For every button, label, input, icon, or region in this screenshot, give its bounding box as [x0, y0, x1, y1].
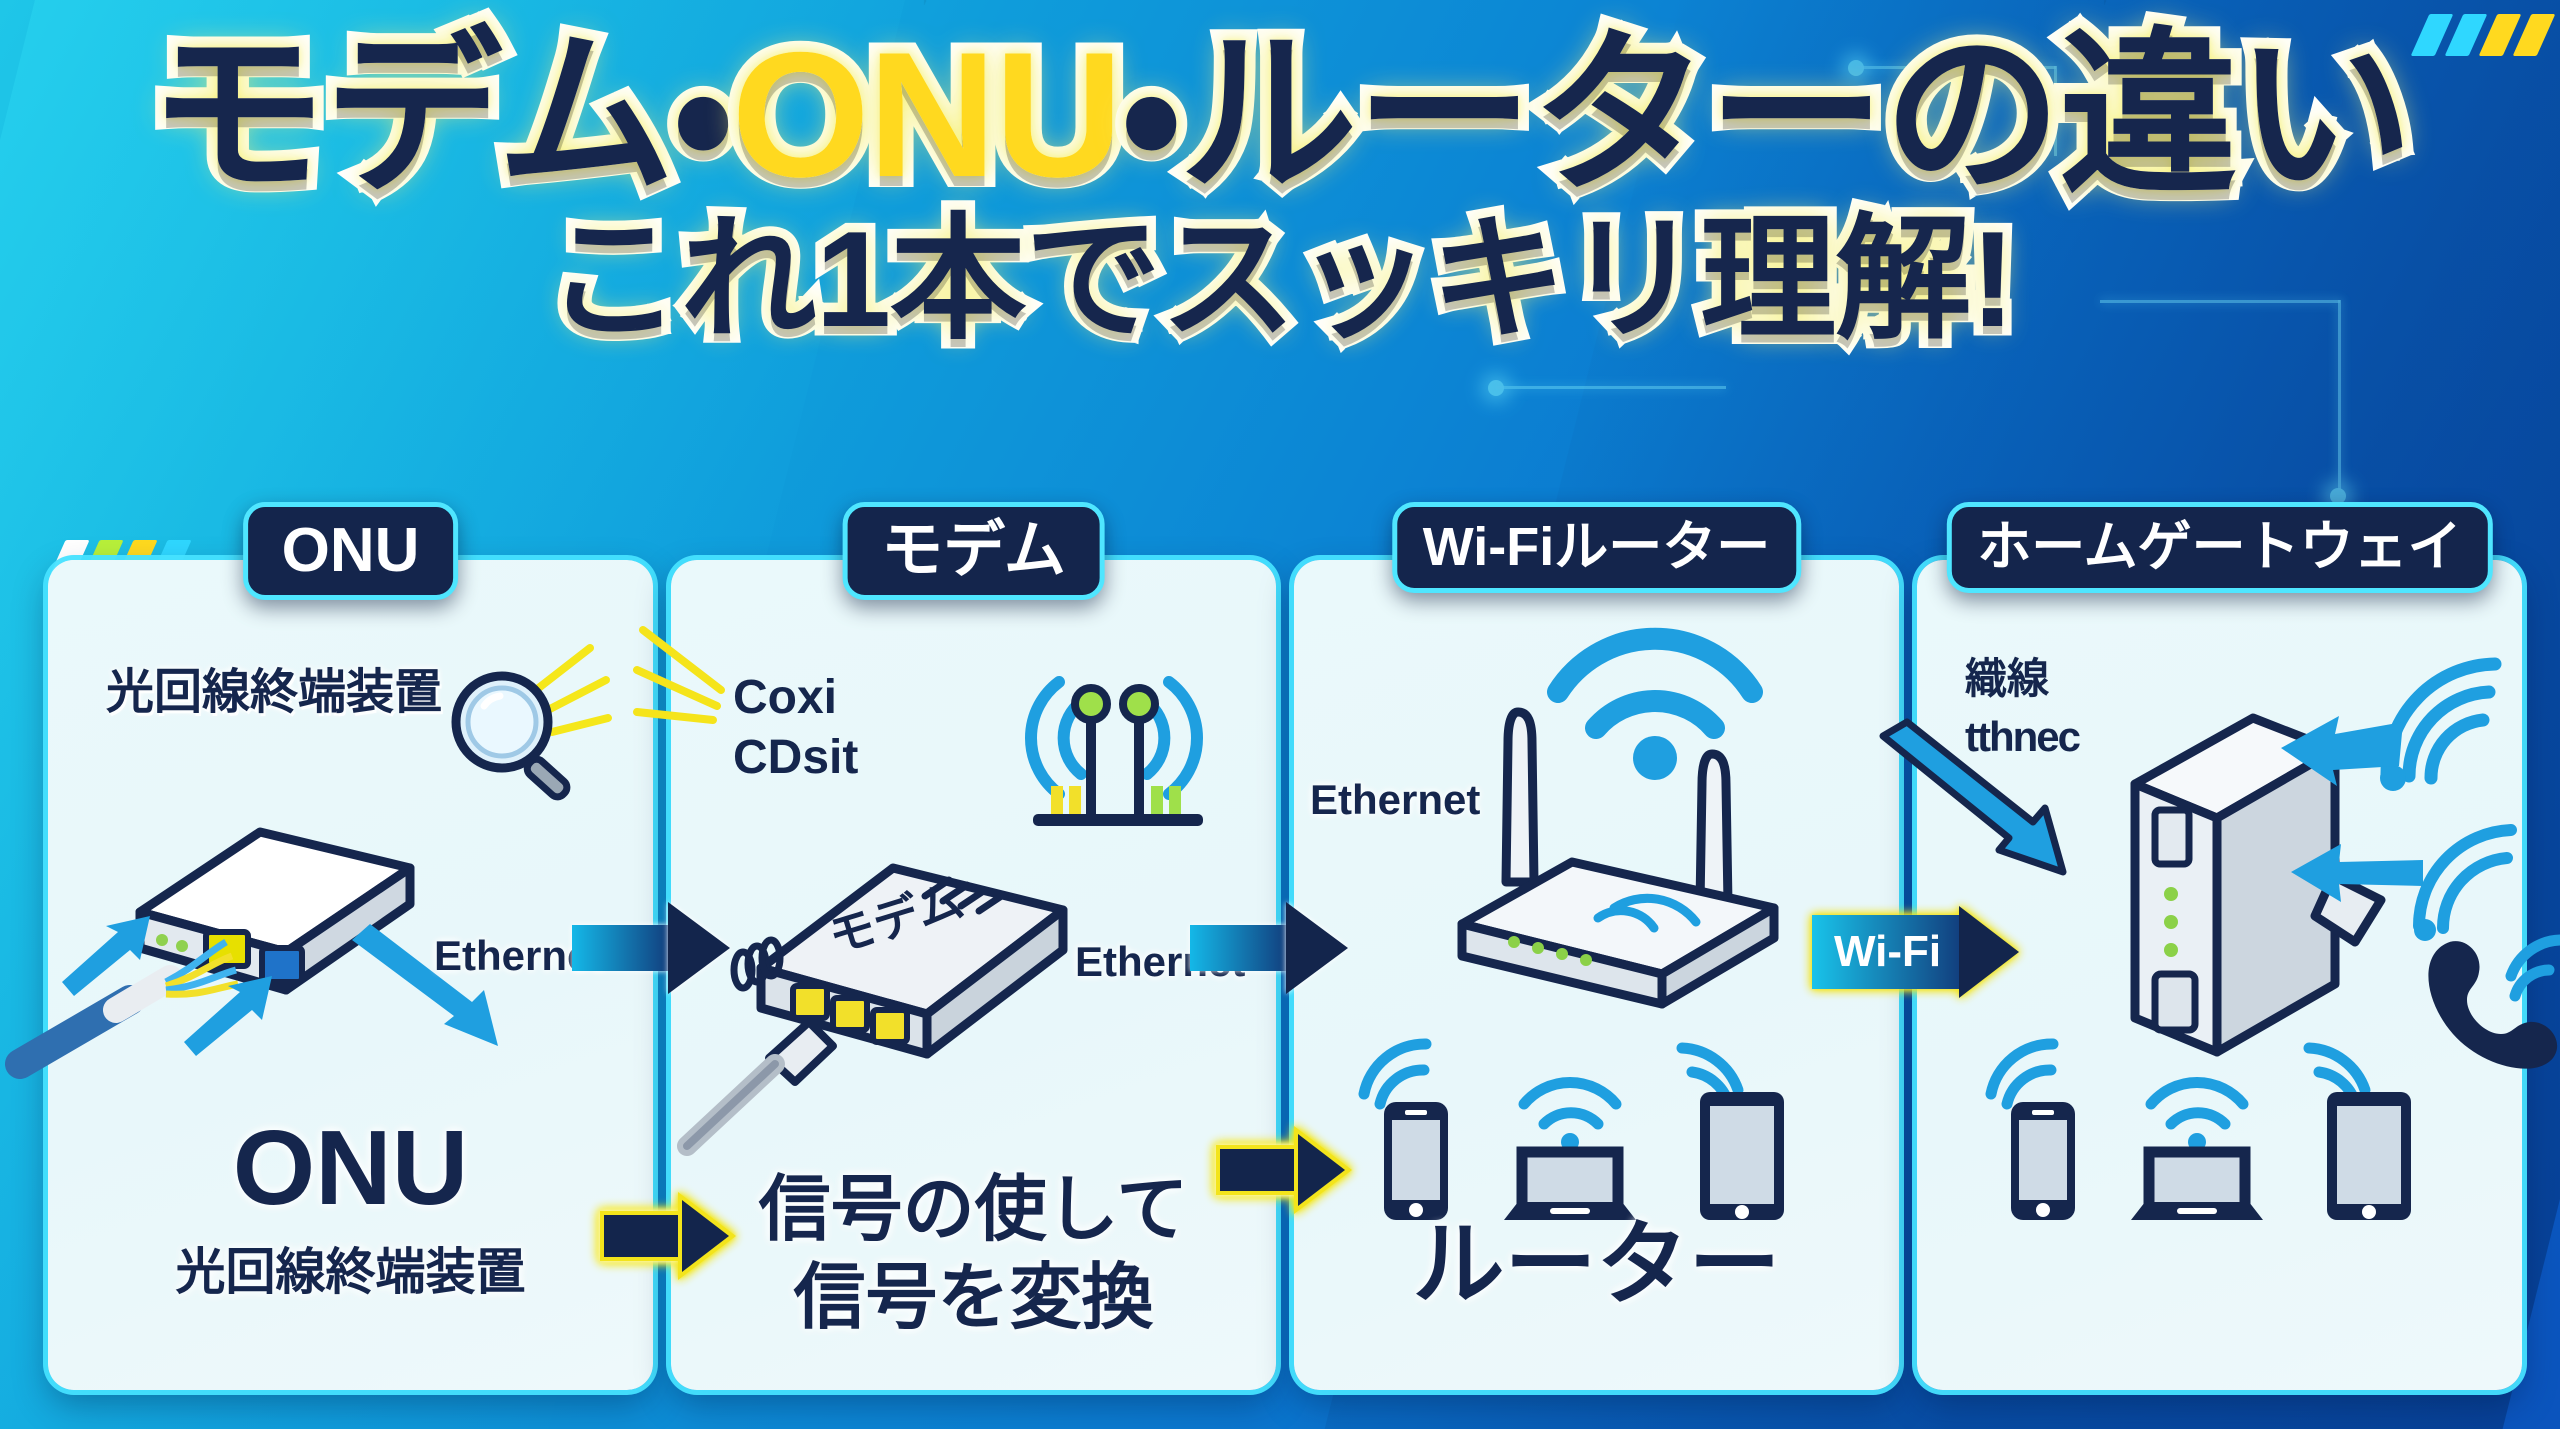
wifi-connector-label: Wi-Fi [1812, 915, 1959, 989]
client-devices-group [1979, 1030, 2449, 1260]
title-part-2: ・ルーターの違い [1121, 15, 2412, 214]
arrow-head-icon [1286, 902, 1348, 994]
coax-cable-icon [683, 998, 923, 1168]
panel-onu-bottom-title: ONU [48, 1108, 653, 1229]
connector-modem-to-router-top [1190, 902, 1348, 994]
thumbnail-canvas: モデム・ONU・ルーターの違い これ1本でスッキリ理解! ONU 光回線終端装置 [0, 0, 2560, 1429]
arrow-tail [1216, 1145, 1294, 1195]
arrow-up-icon [56, 910, 166, 1000]
arrow-head-icon [1959, 906, 2019, 998]
connector-onu-to-modem-top [572, 902, 730, 994]
router-antennas-icon [1422, 712, 1842, 1012]
arrow-left-icon [2277, 710, 2407, 790]
magnifier-icon [440, 644, 610, 804]
arrow-head-icon [1294, 1126, 1352, 1214]
wifi-icon [2403, 822, 2533, 942]
arrow-head-icon [678, 1192, 736, 1280]
title-part-1: モデム・ [148, 15, 731, 214]
title-block: モデム・ONU・ルーターの違い これ1本でスッキリ理解! [0, 24, 2560, 348]
panel-onu[interactable]: ONU 光回線終端装置 [48, 560, 653, 1390]
panel-modem-header: モデム [842, 502, 1105, 600]
panel-modem-bottom-caption: 信号を変換 [671, 1238, 1276, 1343]
page-subtitle: これ1本でスッキリ理解! [0, 210, 2560, 349]
page-title: モデム・ONU・ルーターの違い [0, 24, 2560, 206]
panel-home-gateway-header: ホームゲートウェイ [1946, 502, 2492, 593]
wifi-connector-chip: Wi-Fi [1812, 906, 2019, 998]
arrow-up-icon [178, 970, 288, 1060]
panel-wifi-router[interactable]: Wi-Fiルーター Ethernet [1294, 560, 1899, 1390]
arrow-tail [572, 925, 668, 971]
connector-router-to-gateway: Wi-Fi [1812, 906, 2019, 998]
panel-wifi-router-header: Wi-Fiルーター [1392, 502, 1801, 593]
panel-onu-top-label: 光回線終端装置 [106, 652, 442, 722]
panel-onu-header: ONU [243, 502, 459, 600]
arrow-down-right-icon [1877, 730, 2097, 900]
panel-gateway-garbled-line1: 織線 [1965, 656, 2049, 701]
panel-modem[interactable]: モデム Coxi CDsit [671, 560, 1276, 1390]
arrow-tail [1190, 925, 1286, 971]
sparkle-icon [637, 620, 757, 750]
panel-onu-bottom-caption: 光回線終端装置 [48, 1232, 653, 1304]
connector-onu-to-modem-bottom [600, 1192, 736, 1280]
connector-modem-to-router-bottom [1216, 1126, 1352, 1214]
panel-router-bottom-title: ルーター [1294, 1190, 1899, 1323]
arrow-head-icon [668, 902, 730, 994]
title-highlight-onu: ONU [731, 15, 1121, 214]
arrow-tail [600, 1211, 678, 1261]
